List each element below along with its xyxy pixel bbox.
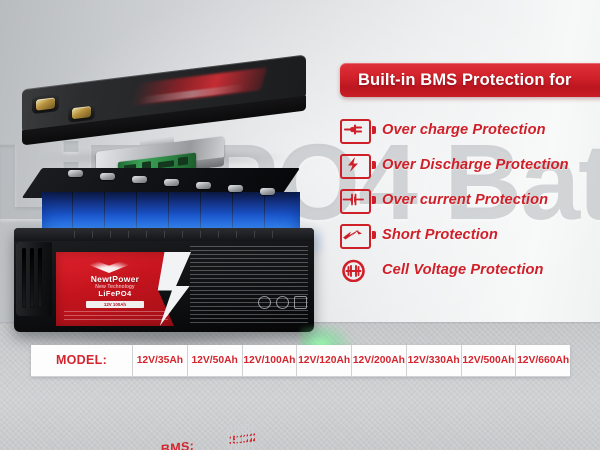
product-exploded-view: NewtPower New Technology LiFePO4 12V 100… (0, 58, 340, 338)
carry-handle (16, 242, 52, 316)
table-cell-model: 12V/330Ah (407, 345, 462, 376)
spec-chip-text: 12V 100Ah (86, 301, 144, 308)
table-cell-bms: 250A (253, 423, 255, 450)
cell-terminal-cap (228, 185, 243, 192)
battery-outer-case: NewtPower New Technology LiFePO4 12V 100… (14, 228, 314, 336)
cell-terminal-cap (260, 188, 275, 195)
cell-terminal-cap (100, 173, 115, 180)
terminal-negative (36, 97, 55, 110)
feature-label: Short Protection (382, 227, 498, 243)
warning-icon (276, 296, 289, 309)
terminal-positive (72, 106, 91, 119)
recycle-icon (258, 296, 271, 309)
table-cell-model: 12V/100Ah (243, 345, 298, 376)
cell-terminal-cap (68, 170, 83, 177)
bms-chip (178, 157, 188, 166)
table-cell-model: 12V/500Ah (462, 345, 517, 376)
banner-bms-protection: Built-in BMS Protection for (340, 63, 600, 97)
table-cell-model: 12V/660Ah (516, 345, 570, 376)
table-header-model: MODEL: (31, 345, 133, 376)
over-charge-battery-icon (340, 118, 372, 142)
protection-feature-list: Over charge Protection Over Discharge Pr… (340, 112, 600, 287)
feature-over-charge: Over charge Protection (340, 112, 600, 147)
banner-title: Built-in BMS Protection for (340, 63, 600, 97)
case-top-lip (14, 228, 314, 241)
chemistry-text: LiFePO4 (68, 289, 162, 298)
feature-short-circuit: Short Protection (340, 217, 600, 252)
cell-terminal-cap (196, 182, 211, 189)
feature-over-discharge: Over Discharge Protection (340, 147, 600, 182)
table-cell-model: 12V/120Ah (297, 345, 352, 376)
brand-name-text: NewtPower (68, 274, 162, 284)
product-feature-image: LiFePO4 Bat (0, 0, 600, 450)
table-cell-model: 12V/200Ah (352, 345, 407, 376)
table-cell-model: 12V/35Ah (133, 345, 188, 376)
spec-panel (190, 246, 308, 324)
feature-cell-voltage: Cell Voltage Protection (340, 252, 600, 287)
label-fine-print (64, 311, 168, 322)
over-discharge-battery-icon (340, 153, 372, 177)
cell-terminal-cap (132, 176, 147, 183)
feature-label: Over current Protection (382, 192, 548, 208)
certification-icon (294, 296, 307, 309)
spec-table: MODEL: 12V/35Ah 12V/50Ah 12V/100Ah 12V/1… (31, 345, 570, 377)
table-row-model: MODEL: 12V/35Ah 12V/50Ah 12V/100Ah 12V/1… (31, 345, 570, 377)
table-cell-model: 12V/50Ah (188, 345, 243, 376)
feature-label: Cell Voltage Protection (382, 262, 544, 278)
feature-label: Over Discharge Protection (382, 157, 569, 173)
cell-terminal-cap (164, 179, 179, 186)
cell-voltage-icon (340, 258, 372, 282)
feature-over-current: Over current Protection (340, 182, 600, 217)
short-circuit-battery-icon (340, 223, 372, 247)
over-current-battery-icon (340, 188, 372, 212)
spec-text-lines (190, 246, 308, 324)
feature-label: Over charge Protection (382, 122, 546, 138)
